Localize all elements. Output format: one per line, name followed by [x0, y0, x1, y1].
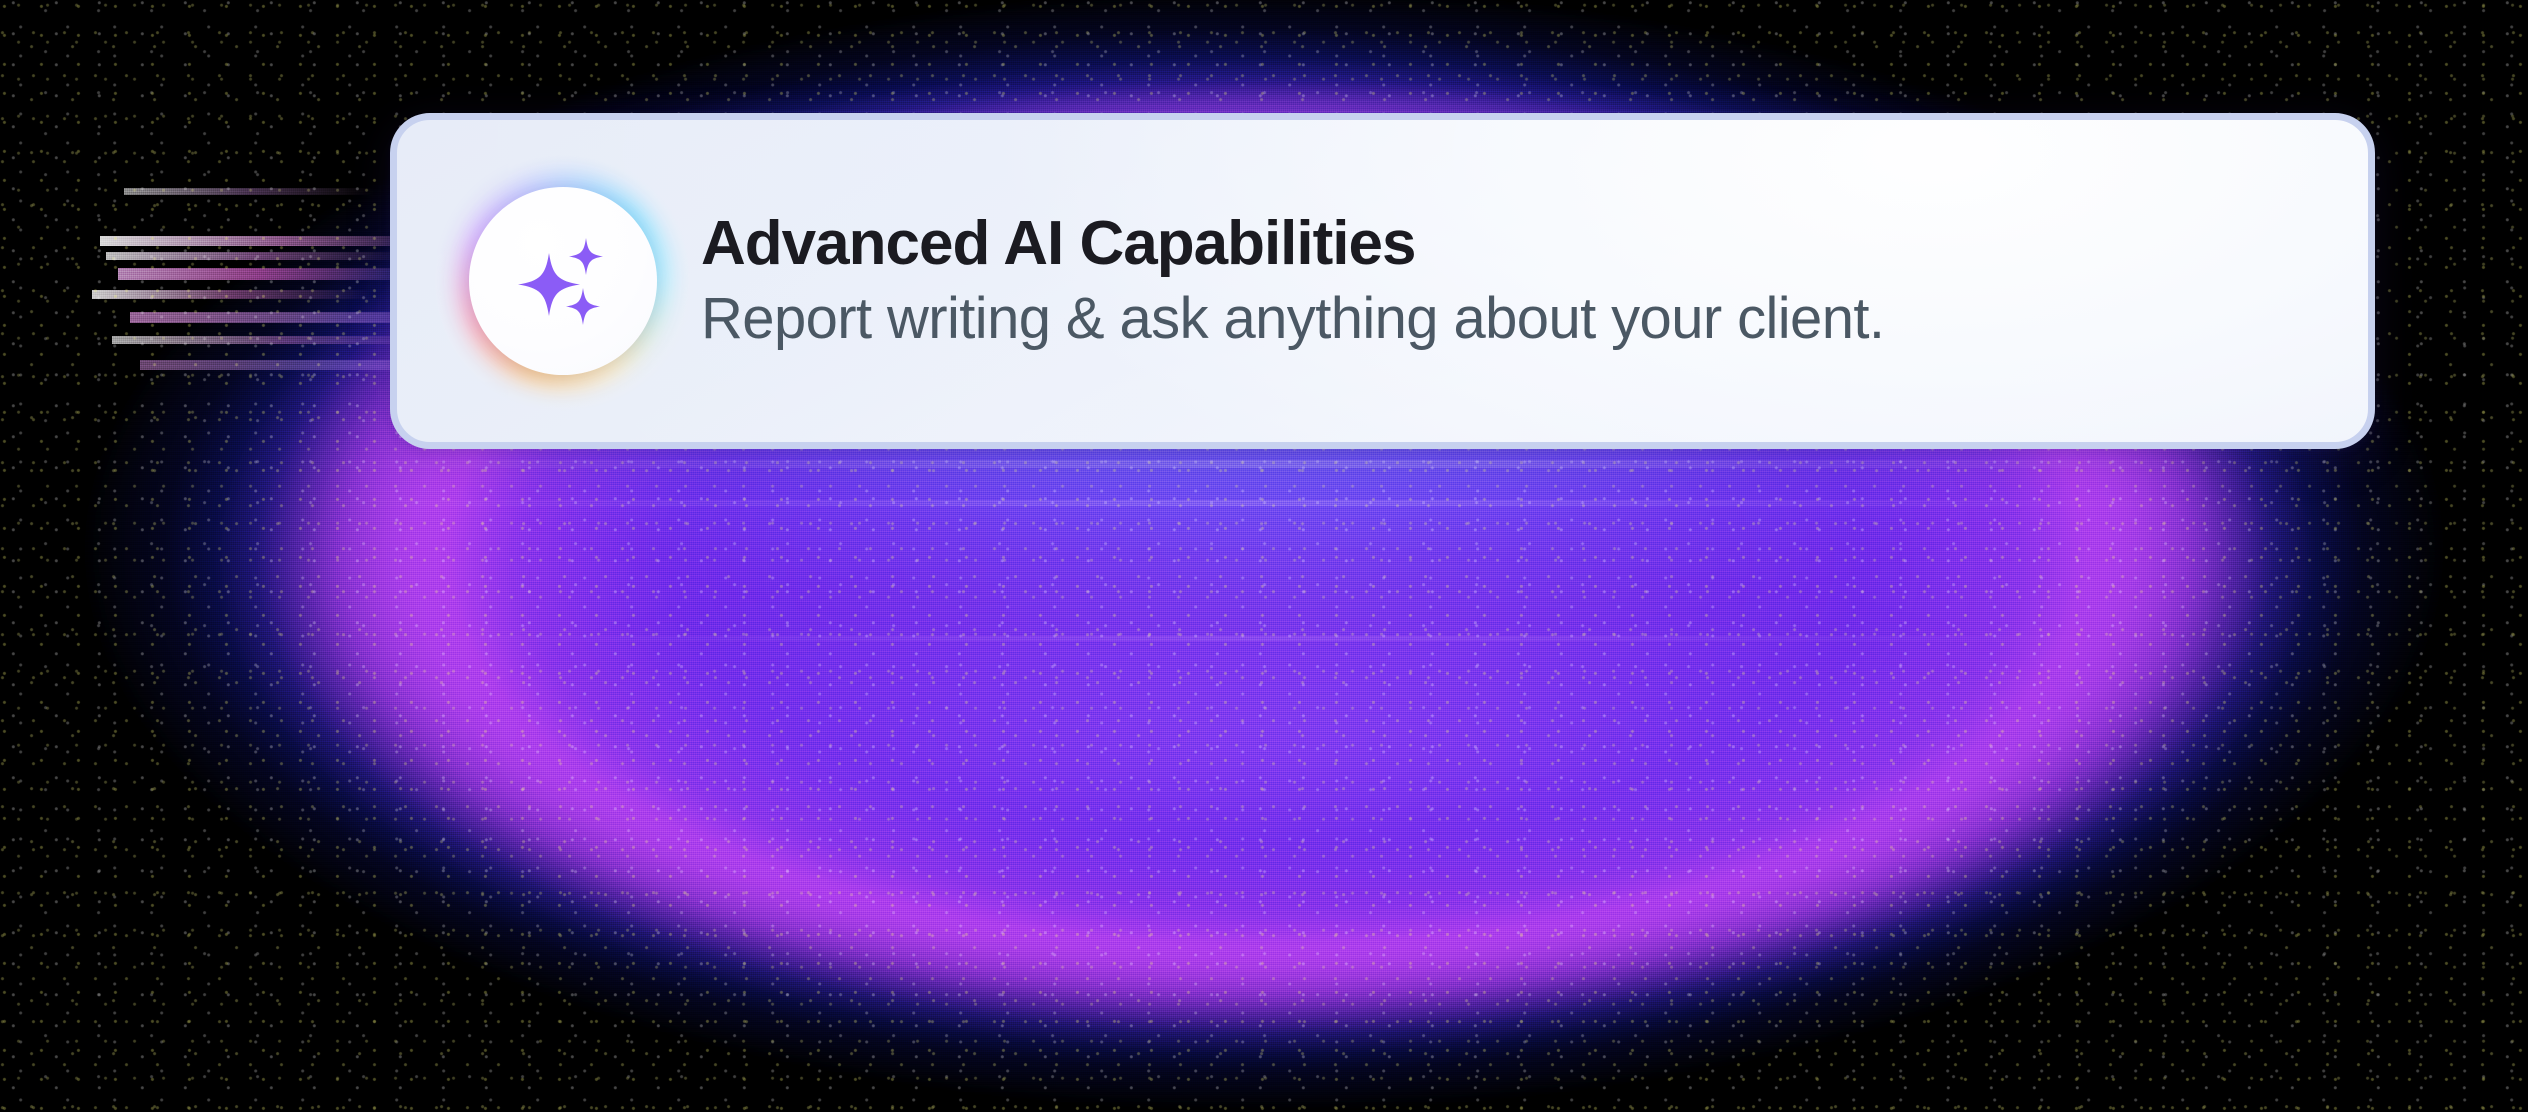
glitch-streak	[92, 290, 372, 299]
glitch-streak	[300, 500, 2200, 506]
sparkles-icon	[511, 229, 615, 333]
glitch-streak	[280, 460, 2280, 468]
icon-badge-wrapper	[463, 181, 663, 381]
card-text-block: Advanced AI Capabilities Report writing …	[701, 209, 2368, 353]
screenshot-stage: Advanced AI Capabilities Report writing …	[0, 0, 2528, 1112]
card-title: Advanced AI Capabilities	[701, 209, 2328, 278]
glitch-streak	[420, 636, 2120, 641]
glitch-streak	[124, 188, 374, 195]
card-subtitle: Report writing & ask anything about your…	[701, 285, 2328, 353]
sparkles-icon-badge	[469, 187, 657, 375]
glitch-streak	[106, 252, 406, 260]
feature-card[interactable]: Advanced AI Capabilities Report writing …	[390, 113, 2375, 449]
glow-lower-highlight	[420, 560, 2140, 920]
